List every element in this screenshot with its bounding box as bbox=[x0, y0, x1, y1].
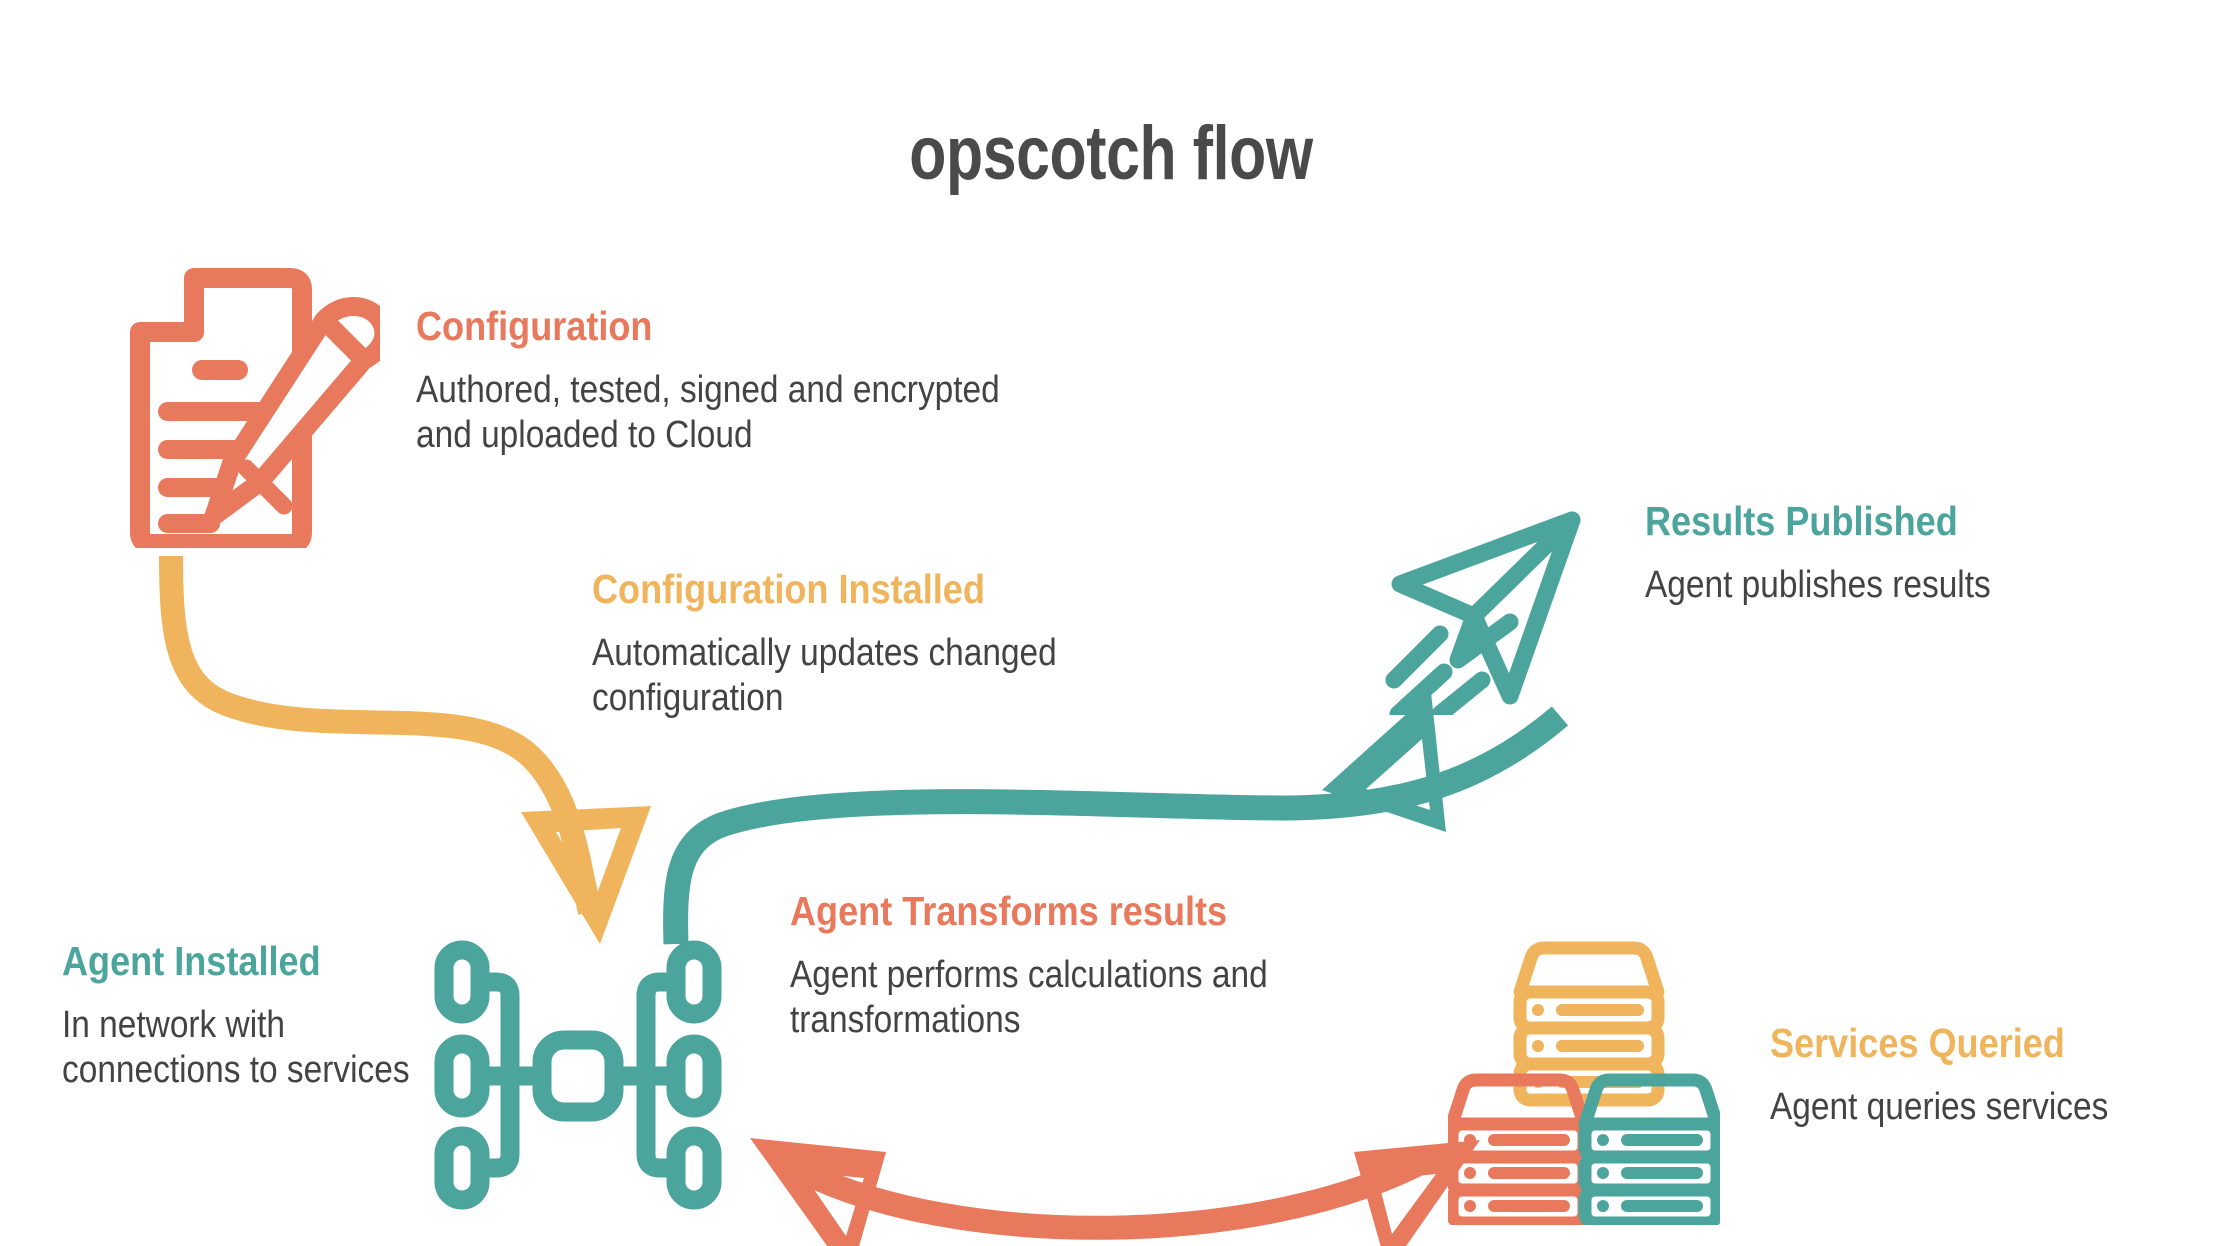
step-heading-results-published: Results Published bbox=[1645, 500, 2138, 543]
step-body-configuration-installed: Automatically updates changed configurat… bbox=[592, 631, 1138, 721]
step-body-results-published: Agent publishes results bbox=[1645, 563, 2138, 608]
step-body-agent-installed: In network with connections to services bbox=[62, 1003, 414, 1093]
step-heading-agent-installed: Agent Installed bbox=[62, 940, 414, 983]
step-heading-agent-transforms-results: Agent Transforms results bbox=[790, 890, 1424, 933]
step-heading-configuration: Configuration bbox=[416, 305, 1032, 348]
step-services-queried: Services Queried Agent queries services bbox=[1770, 1022, 2222, 1130]
step-agent-transforms-results: Agent Transforms results Agent performs … bbox=[790, 890, 1510, 1043]
diagram-canvas: opscotch flow bbox=[0, 0, 2222, 1246]
step-agent-installed: Agent Installed In network with connecti… bbox=[62, 940, 462, 1093]
step-heading-services-queried: Services Queried bbox=[1770, 1022, 2222, 1065]
step-heading-configuration-installed: Configuration Installed bbox=[592, 568, 1138, 611]
step-configuration: Configuration Authored, tested, signed a… bbox=[416, 305, 1116, 458]
step-results-published: Results Published Agent publishes result… bbox=[1645, 500, 2205, 608]
step-body-services-queried: Agent queries services bbox=[1770, 1085, 2222, 1130]
page-title: opscotch flow bbox=[222, 110, 2000, 197]
step-configuration-installed: Configuration Installed Automatically up… bbox=[592, 568, 1212, 721]
document-pencil-icon bbox=[128, 268, 380, 548]
paper-plane-icon bbox=[1382, 500, 1612, 715]
network-nodes-icon bbox=[434, 940, 722, 1210]
connector-agent-to-services bbox=[750, 1138, 1480, 1246]
step-body-configuration: Authored, tested, signed and encrypted a… bbox=[416, 368, 1032, 458]
connector-config-to-agent bbox=[171, 556, 651, 944]
step-body-agent-transforms-results: Agent performs calculations and transfor… bbox=[790, 953, 1424, 1043]
